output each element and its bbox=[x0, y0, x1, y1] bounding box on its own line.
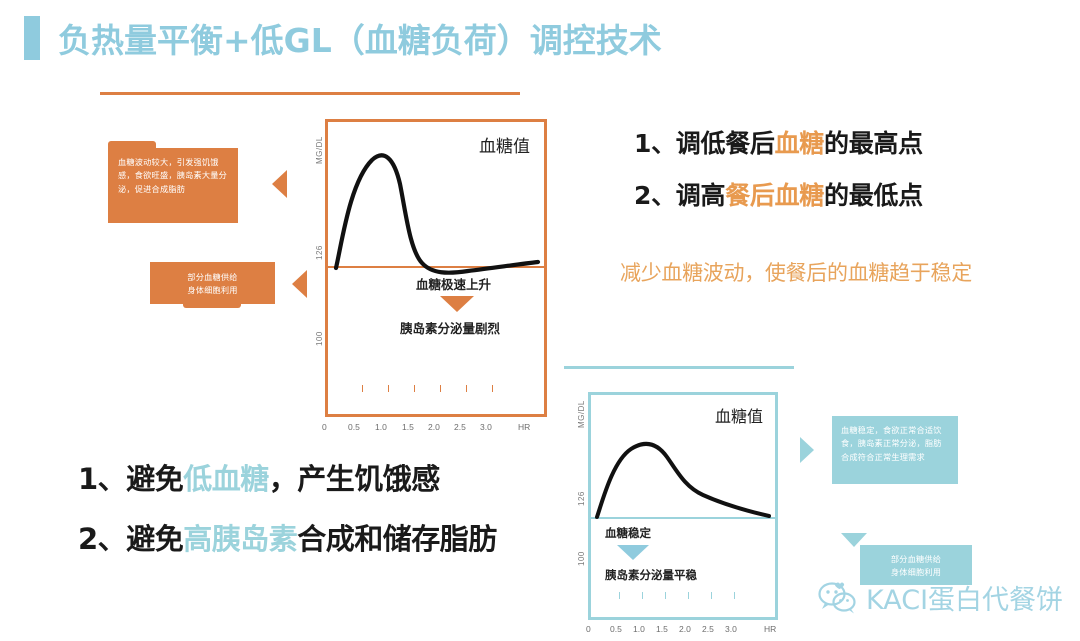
title-accent-bar bbox=[24, 16, 40, 60]
chart1-y-tick-100: 100 bbox=[315, 331, 324, 346]
chart1-xlabel-3-0: 3.0 bbox=[480, 422, 492, 432]
chart2-xlabel-0: 0 bbox=[586, 624, 591, 634]
orange-callout-bottom: 部分血糖供给 身体细胞利用 bbox=[150, 262, 275, 304]
bottom-bullet-2: 2、避免高胰岛素合成和储存脂肪 bbox=[78, 516, 598, 558]
chart1-x-axis-labels: 0 0.5 1.0 1.5 2.0 2.5 3.0 HR bbox=[318, 422, 558, 436]
chart2-xlabel-3-0: 3.0 bbox=[725, 624, 737, 634]
watermark: KACI蛋白代餐饼 bbox=[818, 578, 1063, 617]
chart-high-gl-section: MG/DL 126 100 血糖值 血糖极速上升 胰岛素分泌量剧烈 0 0.5 … bbox=[100, 92, 555, 357]
chart1-xlabel-0-5: 0.5 bbox=[348, 422, 360, 432]
chart2-y-axis-unit: MG/DL bbox=[577, 400, 586, 428]
bottom-bullet-1-post: ，产生饥饿感 bbox=[269, 462, 440, 496]
bottom-bullet-1-pre: 避免 bbox=[126, 462, 183, 496]
bottom-bullet-2-highlight: 高胰岛素 bbox=[183, 522, 297, 556]
orange-divider-rule bbox=[100, 92, 520, 95]
page-title: 负热量平衡+低GL（血糖负荷）调控技术 bbox=[58, 14, 662, 62]
chart1-xlabel-2-5: 2.5 bbox=[454, 422, 466, 432]
right-bullet-1: 1、调低餐后血糖的最高点 bbox=[634, 124, 1034, 160]
chart2-y-tick-126: 126 bbox=[577, 491, 586, 506]
right-bullet-2-highlight: 餐后血糖 bbox=[725, 181, 824, 210]
watermark-text: KACI蛋白代餐饼 bbox=[866, 578, 1063, 617]
chart1-xlabel-1-5: 1.5 bbox=[402, 422, 414, 432]
orange-callout-bottom-line2: 身体细胞利用 bbox=[154, 284, 271, 297]
chart1-xlabel-1-0: 1.0 bbox=[375, 422, 387, 432]
bottom-bullet-1-num: 1、 bbox=[78, 462, 126, 496]
chart1-annotation-insulin: 胰岛素分泌量剧烈 bbox=[400, 318, 500, 337]
chart2-plot-area: 血糖值 血糖稳定 胰岛素分泌量平稳 bbox=[588, 392, 778, 620]
right-bullet-1-post: 的最高点 bbox=[824, 129, 923, 158]
chart1-xlabel-2-0: 2.0 bbox=[428, 422, 440, 432]
chart1-y-tick-126: 126 bbox=[315, 245, 324, 260]
right-bullet-1-num: 1、 bbox=[634, 129, 676, 158]
orange-callout-top: 血糖波动较大，引发强饥饿感，食欲旺盛，胰岛素大量分泌，促进合成脂肪 bbox=[108, 148, 238, 223]
blue-divider-rule bbox=[564, 366, 794, 369]
bottom-bullet-1: 1、避免低血糖，产生饥饿感 bbox=[78, 456, 598, 498]
chart2-xlabel-1-0: 1.0 bbox=[633, 624, 645, 634]
chart1-curve bbox=[328, 122, 544, 414]
chart2-x-axis-labels: 0 0.5 1.0 1.5 2.0 2.5 3.0 HR bbox=[584, 624, 799, 638]
orange-arrow-left-icon-1 bbox=[272, 170, 287, 198]
bottom-bullet-2-post: 合成和储存脂肪 bbox=[297, 522, 497, 556]
chart1-x-axis-unit: HR bbox=[518, 422, 530, 432]
chart1-y-axis: MG/DL 126 100 bbox=[305, 122, 325, 412]
orange-callout-bottom-line1: 部分血糖供给 bbox=[154, 271, 271, 284]
orange-callout-bottom-foot bbox=[183, 304, 241, 308]
chart2-annotation-insulin: 胰岛素分泌量平稳 bbox=[605, 567, 697, 583]
chart2-xlabel-1-5: 1.5 bbox=[656, 624, 668, 634]
chart2-curve bbox=[591, 395, 775, 617]
right-bullet-list: 1、调低餐后血糖的最高点 2、调高餐后血糖的最低点 bbox=[634, 124, 1034, 228]
bottom-bullet-2-num: 2、 bbox=[78, 522, 126, 556]
right-bullet-2-post: 的最低点 bbox=[824, 181, 923, 210]
chart2-annotation-stable: 血糖稳定 bbox=[605, 525, 651, 541]
orange-arrow-left-icon-2 bbox=[292, 270, 307, 298]
chart1-down-arrow-icon bbox=[440, 296, 474, 312]
chart-low-gl-section: MG/DL 126 100 血糖值 血糖稳定 胰岛素分泌量平稳 0 0.5 1.… bbox=[560, 366, 820, 641]
page-header: 负热量平衡+低GL（血糖负荷）调控技术 bbox=[0, 14, 662, 62]
orange-callout-top-text: 血糖波动较大，引发强饥饿感，食欲旺盛，胰岛素大量分泌，促进合成脂肪 bbox=[118, 156, 228, 196]
chart1-plot-area: 血糖值 血糖极速上升 胰岛素分泌量剧烈 bbox=[325, 119, 547, 417]
blue-callout-top-text: 血糖稳定，食欲正常合适饮食，胰岛素正常分泌，脂肪合成符合正常生理需求 bbox=[841, 424, 950, 464]
right-bullet-2-num: 2、 bbox=[634, 181, 676, 210]
bottom-bullet-list: 1、避免低血糖，产生饥饿感 2、避免高胰岛素合成和储存脂肪 bbox=[78, 456, 598, 576]
right-bullet-2: 2、调高餐后血糖的最低点 bbox=[634, 176, 1034, 212]
chart2-xlabel-0-5: 0.5 bbox=[610, 624, 622, 634]
chart2-y-axis: MG/DL 126 100 bbox=[568, 394, 586, 614]
chart2-xlabel-2-5: 2.5 bbox=[702, 624, 714, 634]
bottom-bullet-2-pre: 避免 bbox=[126, 522, 183, 556]
right-bullet-1-pre: 调低餐后 bbox=[676, 129, 775, 158]
chart2-y-tick-100: 100 bbox=[577, 551, 586, 566]
wechat-icon bbox=[818, 582, 858, 614]
chart1-x-ticks bbox=[328, 385, 544, 392]
bottom-bullet-1-highlight: 低血糖 bbox=[183, 462, 269, 496]
chart2-down-arrow-icon bbox=[617, 545, 649, 560]
right-bullet-2-pre: 调高 bbox=[676, 181, 725, 210]
blue-arrow-right-icon bbox=[800, 437, 814, 463]
right-bullet-1-highlight: 血糖 bbox=[775, 129, 824, 158]
chart2-x-axis-unit: HR bbox=[764, 624, 776, 634]
chart1-annotation-rise: 血糖极速上升 bbox=[416, 274, 491, 293]
blue-callout-bottom-line1: 部分血糖供给 bbox=[864, 553, 968, 566]
blue-callout-top: 血糖稳定，食欲正常合适饮食，胰岛素正常分泌，脂肪合成符合正常生理需求 bbox=[832, 416, 958, 484]
chart1-xlabel-0: 0 bbox=[322, 422, 327, 432]
right-subtitle: 减少血糖波动，使餐后的血糖趋于稳定 bbox=[620, 257, 972, 287]
chart2-xlabel-2-0: 2.0 bbox=[679, 624, 691, 634]
chart1-y-axis-unit: MG/DL bbox=[315, 136, 324, 164]
